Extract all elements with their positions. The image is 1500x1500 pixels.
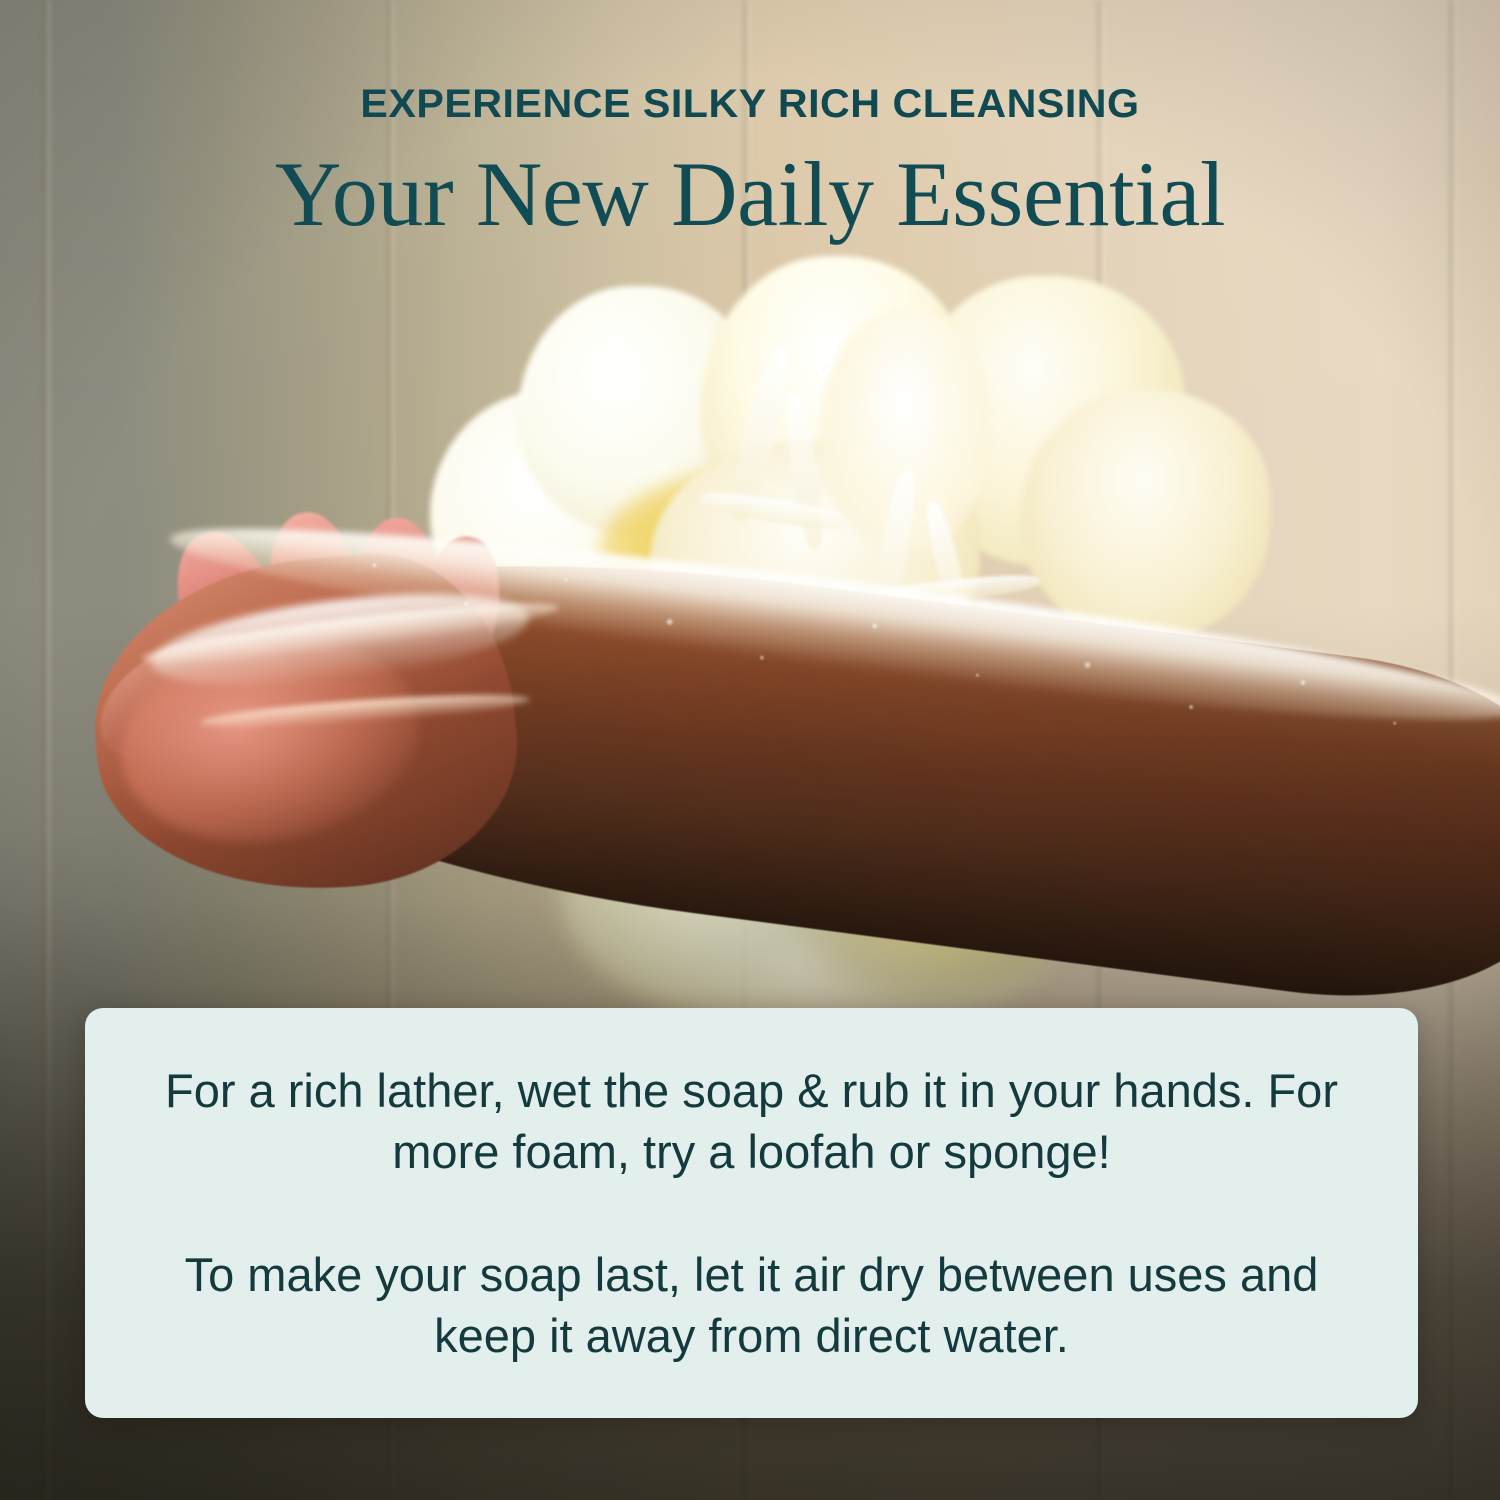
- page-title: Your New Daily Essential: [0, 146, 1500, 244]
- eyebrow-heading: EXPERIENCE SILKY RICH CLEANSING: [0, 84, 1500, 124]
- usage-instructions-panel: For a rich lather, wet the soap & rub it…: [85, 1008, 1418, 1418]
- product-lifestyle-banner: EXPERIENCE SILKY RICH CLEANSING Your New…: [0, 0, 1500, 1500]
- instruction-paragraph-lather: For a rich lather, wet the soap & rub it…: [131, 1060, 1372, 1182]
- instruction-paragraph-storage: To make your soap last, let it air dry b…: [131, 1244, 1372, 1366]
- header-block: EXPERIENCE SILKY RICH CLEANSING Your New…: [0, 84, 1500, 244]
